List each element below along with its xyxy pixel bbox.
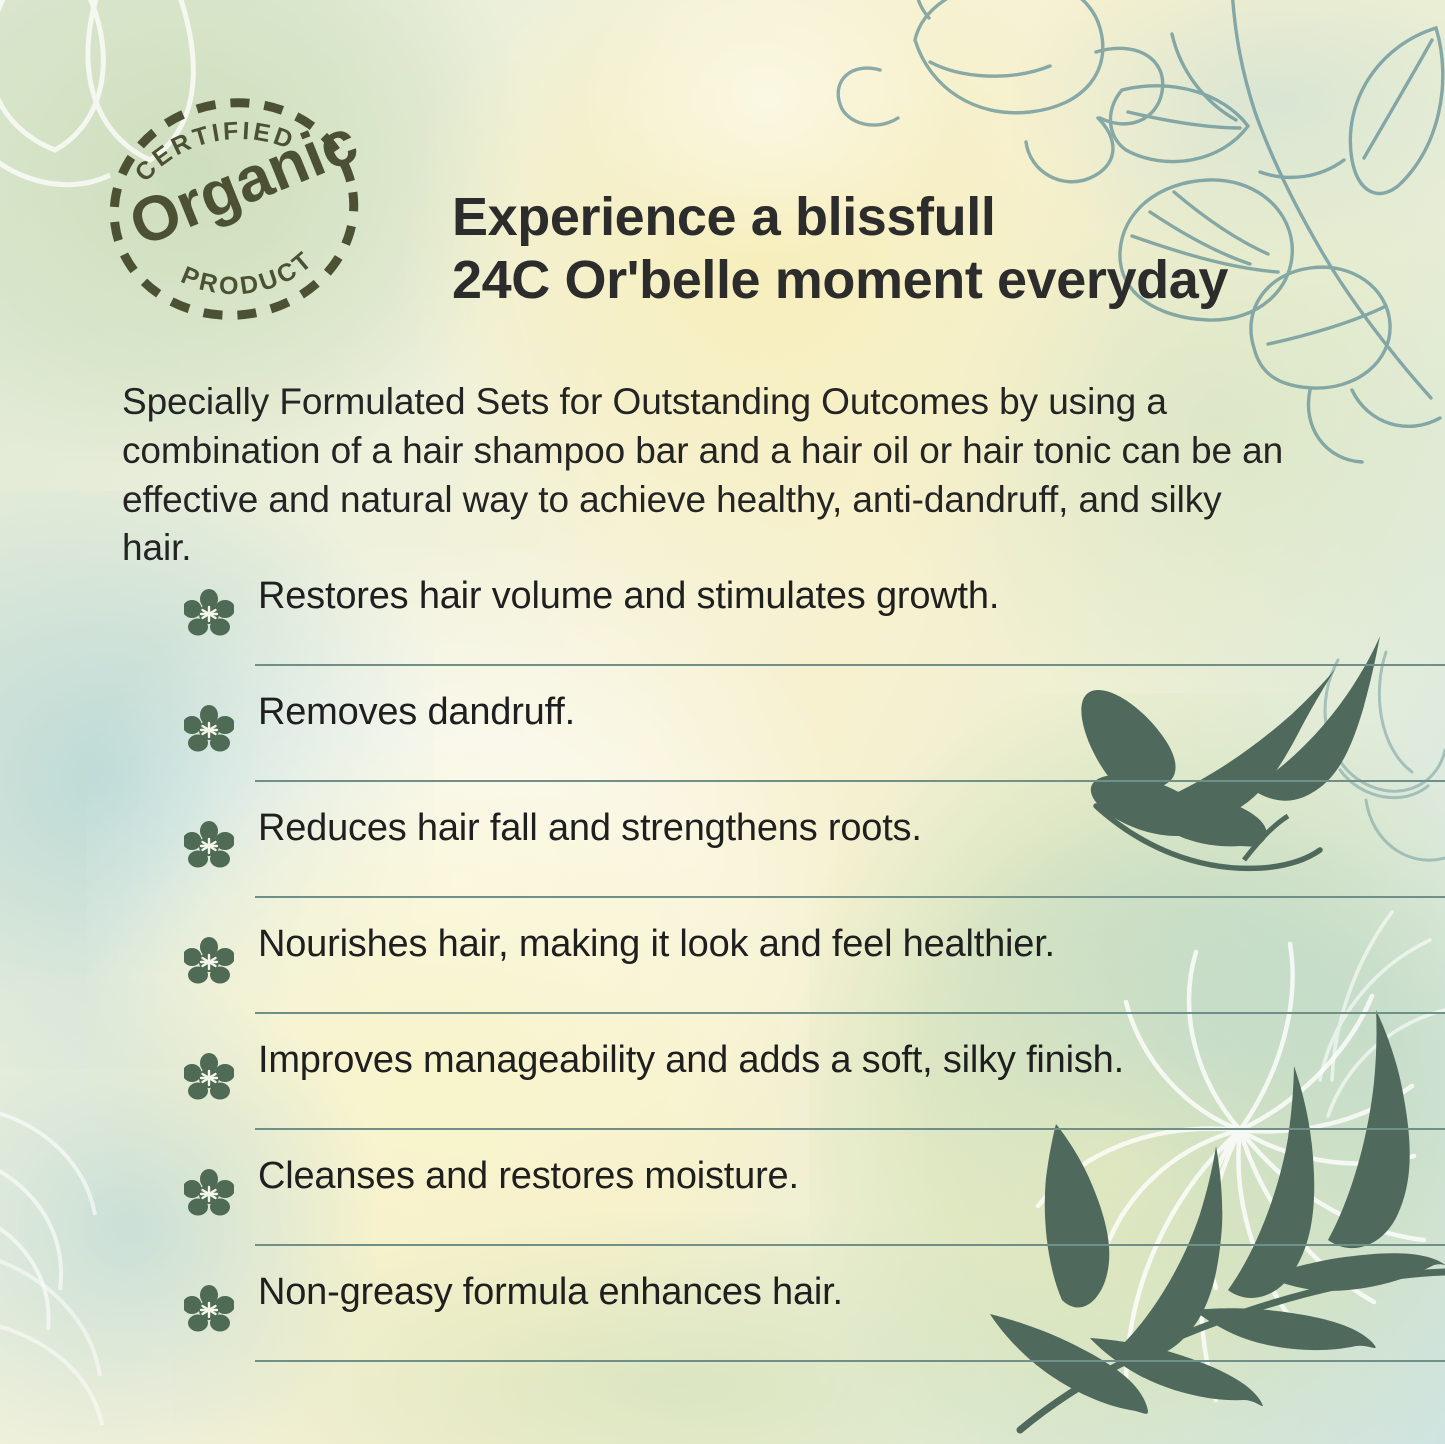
list-item: Nourishes hair, making it look and feel …	[0, 926, 1445, 1042]
certified-organic-badge: CERTIFIED PRODUCT Organic	[105, 95, 363, 323]
page-title-line-1: Experience a blissfull	[452, 186, 1392, 249]
flower-icon	[184, 936, 234, 984]
flower-icon	[184, 1052, 234, 1100]
list-item-divider	[255, 1360, 1445, 1362]
list-item: Reduces hair fall and strengthens roots.	[0, 810, 1445, 926]
feature-list: Restores hair volume and stimulates grow…	[0, 578, 1445, 1390]
list-item-label: Non-greasy formula enhances hair.	[258, 1273, 843, 1311]
list-item-label: Removes dandruff.	[258, 693, 575, 731]
list-item-divider	[255, 1128, 1445, 1130]
flower-icon	[184, 1168, 234, 1216]
list-item-divider	[255, 780, 1445, 782]
list-item-divider	[255, 1244, 1445, 1246]
flower-icon	[184, 704, 234, 752]
list-item-divider	[255, 664, 1445, 666]
page-title-line-2: 24C Or'belle moment everyday	[452, 249, 1392, 312]
list-item-label: Improves manageability and adds a soft, …	[258, 1041, 1124, 1079]
list-item-divider	[255, 1012, 1445, 1014]
list-item-label: Reduces hair fall and strengthens roots.	[258, 809, 922, 847]
list-item: Improves manageability and adds a soft, …	[0, 1042, 1445, 1158]
flower-icon	[184, 1284, 234, 1332]
list-item-label: Cleanses and restores moisture.	[258, 1157, 799, 1195]
badge-stamp-icon: CERTIFIED PRODUCT Organic	[105, 95, 363, 323]
list-item-label: Nourishes hair, making it look and feel …	[258, 925, 1055, 963]
list-item: Removes dandruff.	[0, 694, 1445, 810]
list-item: Cleanses and restores moisture.	[0, 1158, 1445, 1274]
flower-icon	[184, 820, 234, 868]
flower-icon	[184, 588, 234, 636]
badge-bottom-arc-text: PRODUCT	[177, 245, 319, 300]
list-item: Non-greasy formula enhances hair.	[0, 1274, 1445, 1390]
list-item: Restores hair volume and stimulates grow…	[0, 578, 1445, 694]
intro-paragraph: Specially Formulated Sets for Outstandin…	[122, 378, 1297, 573]
list-item-label: Restores hair volume and stimulates grow…	[258, 577, 999, 615]
list-item-divider	[255, 896, 1445, 898]
page-title: Experience a blissfull 24C Or'belle mome…	[452, 186, 1392, 311]
